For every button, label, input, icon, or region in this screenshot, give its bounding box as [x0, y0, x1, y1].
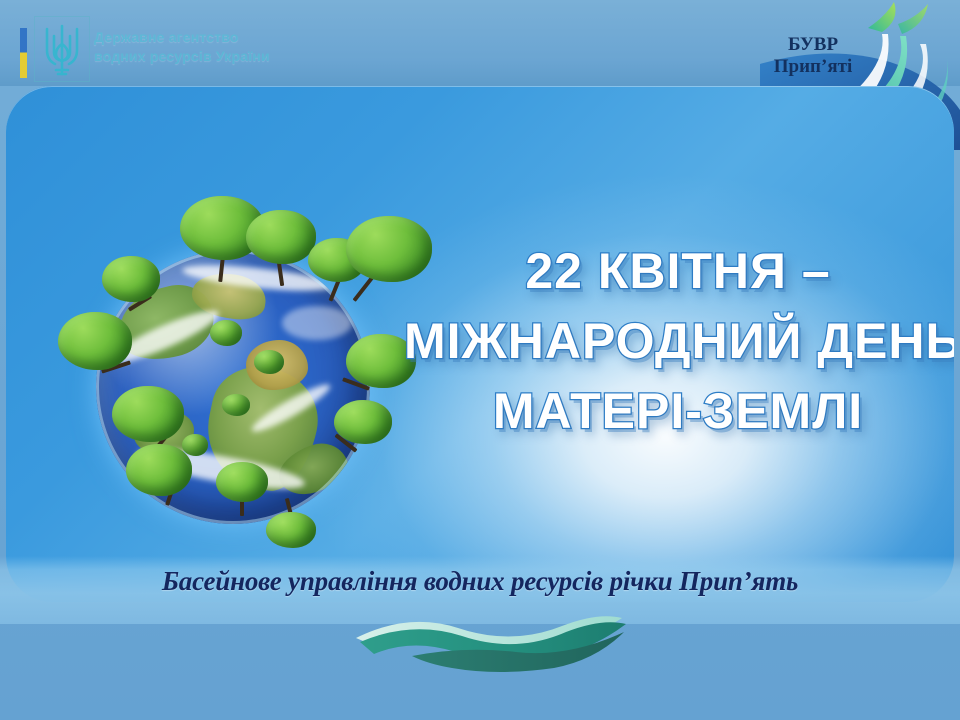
tree-icon	[254, 350, 286, 380]
tree-icon	[58, 312, 136, 390]
slide-root: Державне агентство водних ресурсів Украї…	[0, 0, 960, 720]
agency-name-line1: Державне агентство	[94, 28, 294, 47]
agency-name-line2: водних ресурсів України	[94, 47, 294, 66]
earth-globe-illustration	[58, 194, 418, 544]
tree-icon	[182, 434, 210, 460]
ukraine-flag-bar-icon	[20, 28, 27, 78]
tree-icon	[210, 320, 244, 352]
agency-name: Державне агентство водних ресурсів Украї…	[94, 28, 294, 66]
buvr-name-line2: Прип’яті	[770, 56, 856, 78]
tree-icon	[222, 394, 252, 422]
tree-icon	[102, 256, 164, 322]
page-title: 22 КВІТНЯ – МІЖНАРОДНИЙ ДЕНЬ МАТЕРІ-ЗЕМЛ…	[404, 236, 952, 446]
title-line-2: МІЖНАРОДНИЙ ДЕНЬ	[404, 306, 952, 376]
ukraine-trident-icon	[38, 20, 86, 80]
header-band: Державне агентство водних ресурсів Украї…	[0, 0, 960, 86]
title-line-1: 22 КВІТНЯ –	[404, 236, 952, 306]
tree-icon	[334, 400, 396, 464]
tree-icon	[216, 462, 272, 522]
tree-icon	[244, 210, 318, 290]
main-panel: 22 КВІТНЯ – МІЖНАРОДНИЙ ДЕНЬ МАТЕРІ-ЗЕМЛ…	[6, 86, 954, 602]
tree-icon	[266, 494, 318, 548]
agency-logo[interactable]: Державне агентство водних ресурсів Украї…	[18, 14, 290, 84]
wave-decoration-icon	[330, 604, 630, 674]
subtitle-text: Басейнове управління водних ресурсів річ…	[0, 566, 960, 597]
title-line-3: МАТЕРІ-ЗЕМЛІ	[404, 376, 952, 446]
buvr-name: БУВР Прип’яті	[770, 34, 856, 78]
buvr-name-line1: БУВР	[770, 34, 856, 56]
